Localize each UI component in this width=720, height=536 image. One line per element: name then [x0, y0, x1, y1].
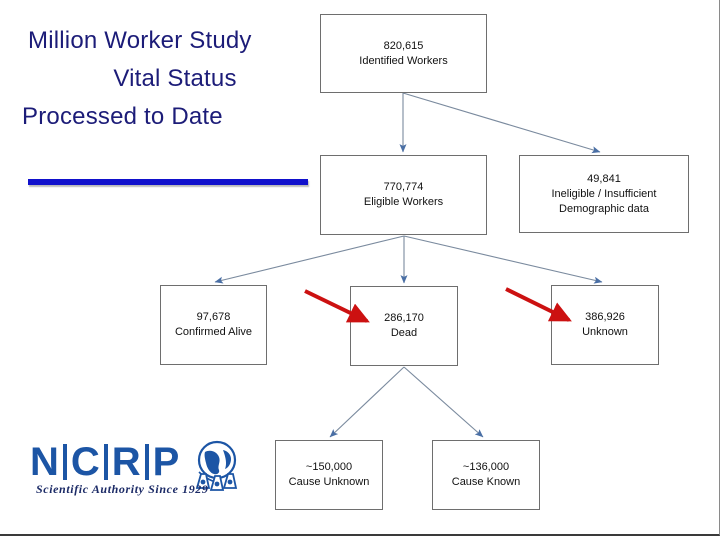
- red-arrow-to-dead: [305, 291, 367, 321]
- red-annotation-arrows: [0, 0, 720, 536]
- red-arrow-to-unknown: [506, 289, 569, 320]
- slide-canvas: Million Worker Study Vital Status Proces…: [0, 0, 720, 536]
